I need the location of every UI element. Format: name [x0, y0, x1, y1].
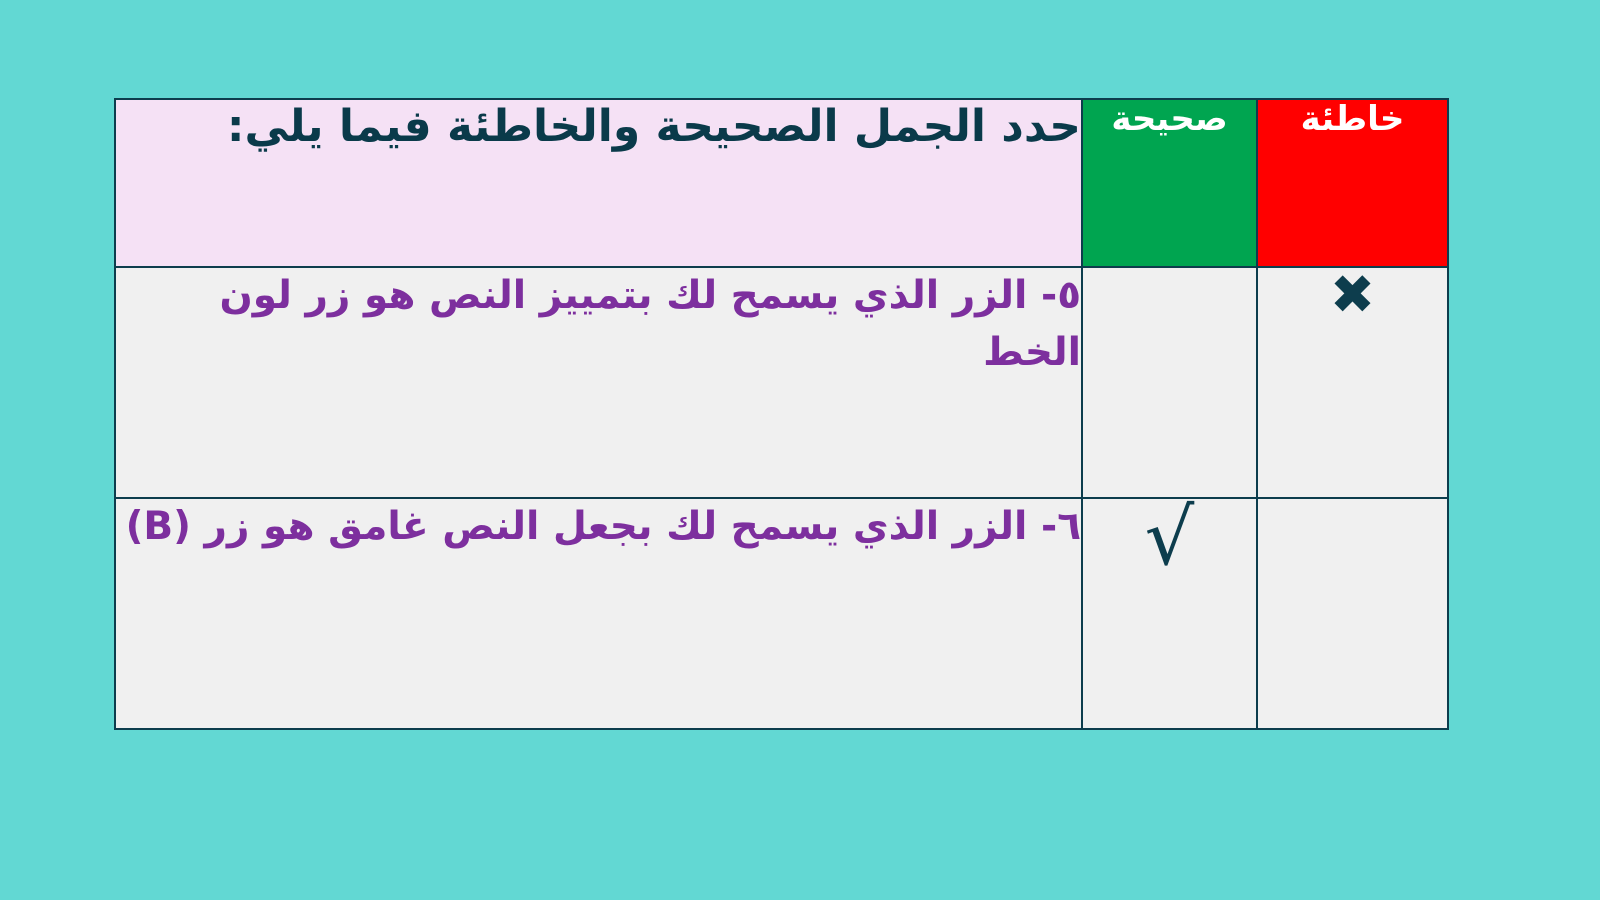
statement-cell-row-2: ٦- الزر الذي يسمح لك بجعل النص غامق هو ز… [115, 498, 1082, 729]
header-label-true: صحيحة [1111, 99, 1227, 139]
page-title: حدد الجمل الصحيحة والخاطئة فيما يلي: [227, 101, 1081, 152]
header-cell-statement: حدد الجمل الصحيحة والخاطئة فيما يلي: [115, 99, 1082, 267]
statement-text: ٥- الزر الذي يسمح لك بتمييز النص هو زر ل… [220, 273, 1081, 375]
header-label-false: خاطئة [1301, 99, 1405, 139]
table-row: ✖ ٥- الزر الذي يسمح لك بتمييز النص هو زر… [115, 267, 1448, 498]
table-header-row: خاطئة صحيحة حدد الجمل الصحيحة والخاطئة ف… [115, 99, 1448, 267]
quiz-table: خاطئة صحيحة حدد الجمل الصحيحة والخاطئة ف… [114, 98, 1449, 730]
answer-cell-true-row-1[interactable] [1082, 267, 1257, 498]
header-cell-false: خاطئة [1257, 99, 1448, 267]
header-cell-true: صحيحة [1082, 99, 1257, 267]
quiz-table-container: خاطئة صحيحة حدد الجمل الصحيحة والخاطئة ف… [116, 98, 1449, 730]
statement-text: ٦- الزر الذي يسمح لك بجعل النص غامق هو ز… [126, 504, 1081, 549]
answer-cell-true-row-2[interactable]: √ [1082, 498, 1257, 729]
cross-mark-icon: ✖ [1258, 268, 1447, 356]
table-row: √ ٦- الزر الذي يسمح لك بجعل النص غامق هو… [115, 498, 1448, 729]
answer-cell-false-row-1[interactable]: ✖ [1257, 267, 1448, 498]
check-mark-icon: √ [1083, 499, 1256, 587]
answer-cell-false-row-2[interactable] [1257, 498, 1448, 729]
slide-canvas: خاطئة صحيحة حدد الجمل الصحيحة والخاطئة ف… [0, 0, 1600, 900]
statement-cell-row-1: ٥- الزر الذي يسمح لك بتمييز النص هو زر ل… [115, 267, 1082, 498]
